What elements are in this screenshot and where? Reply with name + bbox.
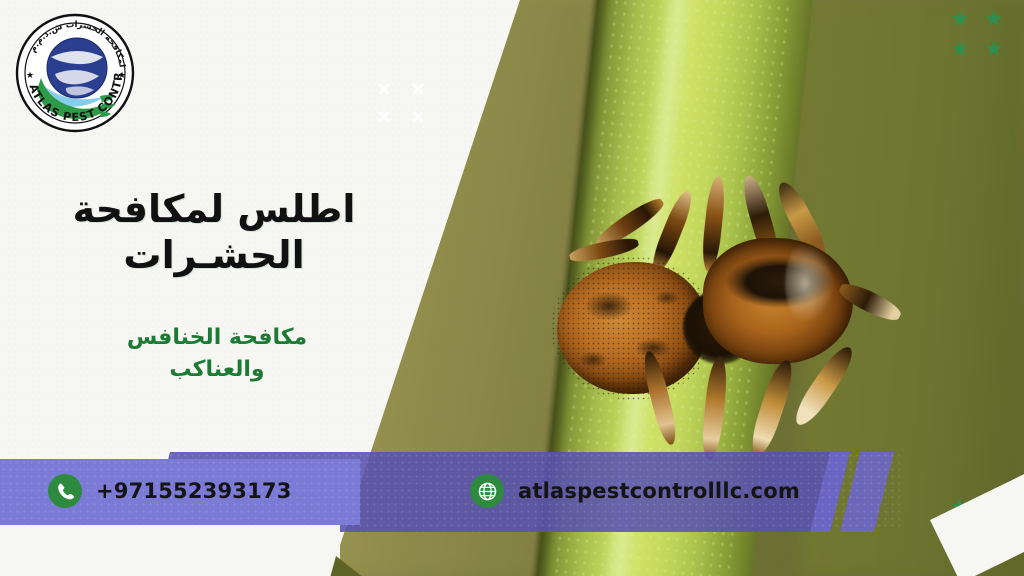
spider-leg [746, 357, 798, 459]
spider-leg [700, 355, 730, 460]
phone-icon [48, 474, 82, 508]
x-icon [409, 108, 427, 126]
x-icon [409, 80, 427, 98]
spider-head-hairs [785, 228, 865, 338]
page-title: اطلس لمكافحة الحشـرات [44, 186, 384, 279]
phone-number: +971552393173 [96, 479, 292, 503]
globe-icon [470, 474, 504, 508]
poster-canvas: ★ ★ ATLAS PEST CONTROL L.L.C اطلس لمكافح… [0, 0, 1024, 576]
x-icon [375, 80, 393, 98]
svg-text:★: ★ [26, 71, 34, 81]
contact-phone[interactable]: +971552393173 [48, 474, 292, 508]
decorative-x-marks [375, 80, 429, 126]
website-url: atlaspestcontrolllc.com [518, 479, 800, 503]
star-icon: ★ [950, 10, 970, 30]
star-icon: ★ [984, 40, 1004, 60]
x-icon [375, 108, 393, 126]
banner-bottom-mask [0, 525, 340, 576]
contact-website[interactable]: atlaspestcontrolllc.com [470, 474, 800, 508]
spider-illustration [555, 180, 895, 460]
star-icon: ★ [984, 10, 1004, 30]
decorative-stars-top: ★ ★ ★ ★ [950, 10, 1014, 66]
bottom-olive-triangle [330, 556, 364, 576]
star-icon: ★ [950, 40, 970, 60]
atlas-pest-control-logo[interactable]: ★ ★ ATLAS PEST CONTROL L.L.C اطلس لمكافح… [14, 12, 136, 134]
page-subtitle: مكافحة الخنافس والعناكب [86, 322, 348, 386]
